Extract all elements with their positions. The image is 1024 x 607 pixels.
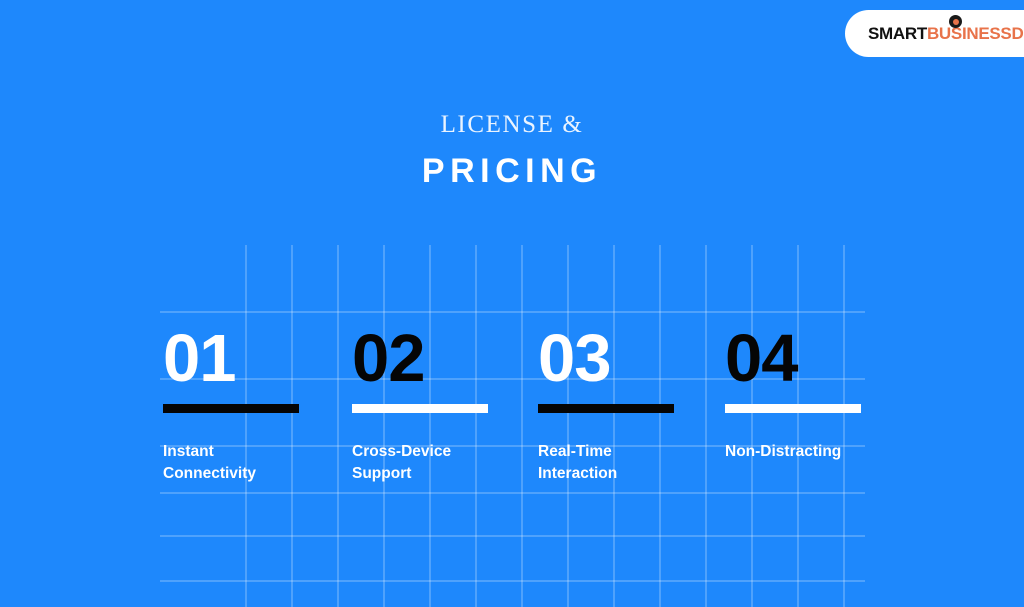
- feature-item-04: 04 Non-Distracting: [725, 325, 900, 463]
- feature-item-list: 01 Instant Connectivity 02 Cross-Device …: [163, 325, 883, 525]
- feature-number: 04: [725, 325, 900, 395]
- eyebrow-text: LICENSE &: [0, 112, 1024, 137]
- feature-number: 02: [352, 325, 527, 395]
- logo-text-businessdaily: BUSINESSDAILY: [927, 24, 1024, 43]
- feature-number: 01: [163, 325, 338, 395]
- heading-block: LICENSE & PRICING: [0, 112, 1024, 188]
- feature-label: Instant Connectivity: [163, 441, 323, 485]
- feature-item-02: 02 Cross-Device Support: [352, 325, 527, 485]
- logo-wordmark: SMARTBUSINESSDAILY: [868, 25, 1024, 43]
- pricing-slide: SMARTBUSINESSDAILY LICENSE & PRICING 01 …: [0, 0, 1024, 607]
- feature-label: Cross-Device Support: [352, 441, 512, 485]
- grid-line-horizontal: [160, 580, 865, 582]
- feature-label: Real-Time Interaction: [538, 441, 698, 485]
- brand-logo[interactable]: SMARTBUSINESSDAILY: [845, 10, 1024, 57]
- circle-dot-icon: [949, 15, 962, 28]
- feature-item-03: 03 Real-Time Interaction: [538, 325, 713, 485]
- grid-line-horizontal: [160, 311, 865, 313]
- feature-divider-bar: [725, 404, 861, 413]
- feature-divider-bar: [163, 404, 299, 413]
- feature-item-01: 01 Instant Connectivity: [163, 325, 338, 485]
- feature-label: Non-Distracting: [725, 441, 915, 463]
- feature-divider-bar: [538, 404, 674, 413]
- feature-divider-bar: [352, 404, 488, 413]
- feature-number: 03: [538, 325, 713, 395]
- logo-text-smart: SMART: [868, 24, 927, 43]
- grid-line-horizontal: [160, 535, 865, 537]
- page-title: PRICING: [0, 154, 1024, 188]
